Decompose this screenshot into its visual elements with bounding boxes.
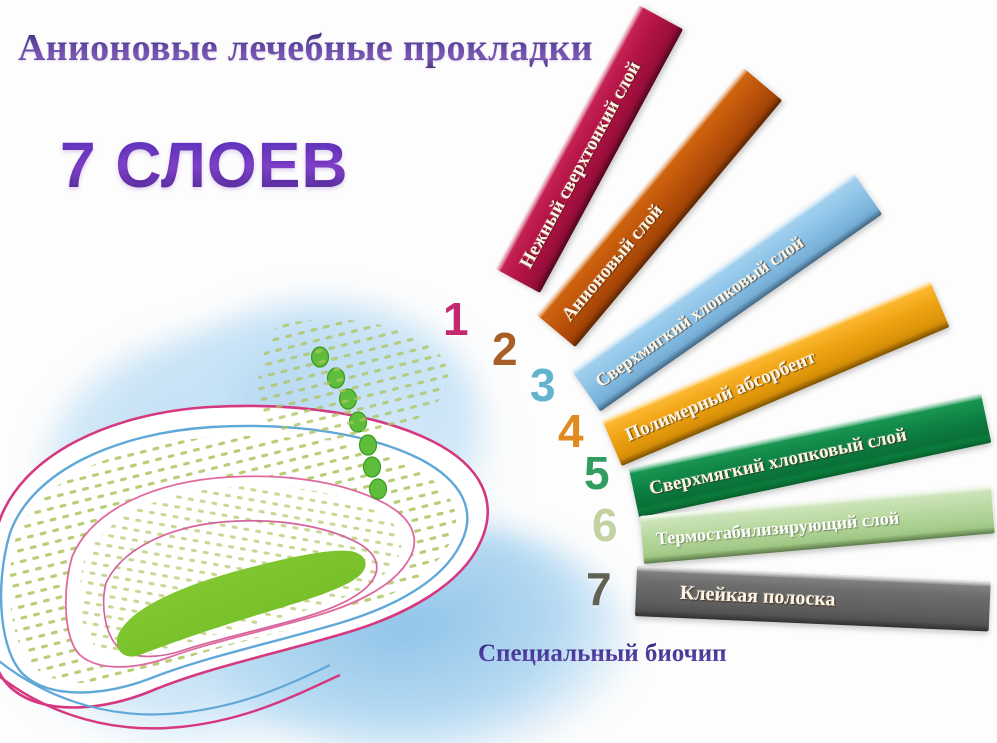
biochip-caption: Специальный биочип	[478, 640, 727, 668]
page-title: Анионовые лечебные прокладки	[18, 26, 593, 70]
bar-bevel-bottom-7	[635, 610, 989, 631]
sanitary-pad-illustration	[0, 295, 520, 743]
layer-bar-7[interactable]: Клейкая полоска	[635, 566, 991, 631]
layer-number-6: 6	[592, 502, 618, 548]
infographic-canvas: Анионовые лечебные прокладки 7 СЛОЕВ Спе…	[0, 0, 997, 743]
page-subtitle: 7 СЛОЕВ	[60, 128, 349, 202]
layer-bar-label-7: Клейкая полоска	[679, 581, 836, 611]
layer-number-1: 1	[443, 296, 469, 342]
layer-number-7: 7	[586, 566, 612, 612]
layer-number-5: 5	[584, 450, 610, 496]
layer-number-3: 3	[530, 362, 556, 408]
layer-number-2: 2	[492, 326, 518, 372]
layer-number-4: 4	[558, 408, 584, 454]
pad-wing-texture	[258, 320, 448, 441]
